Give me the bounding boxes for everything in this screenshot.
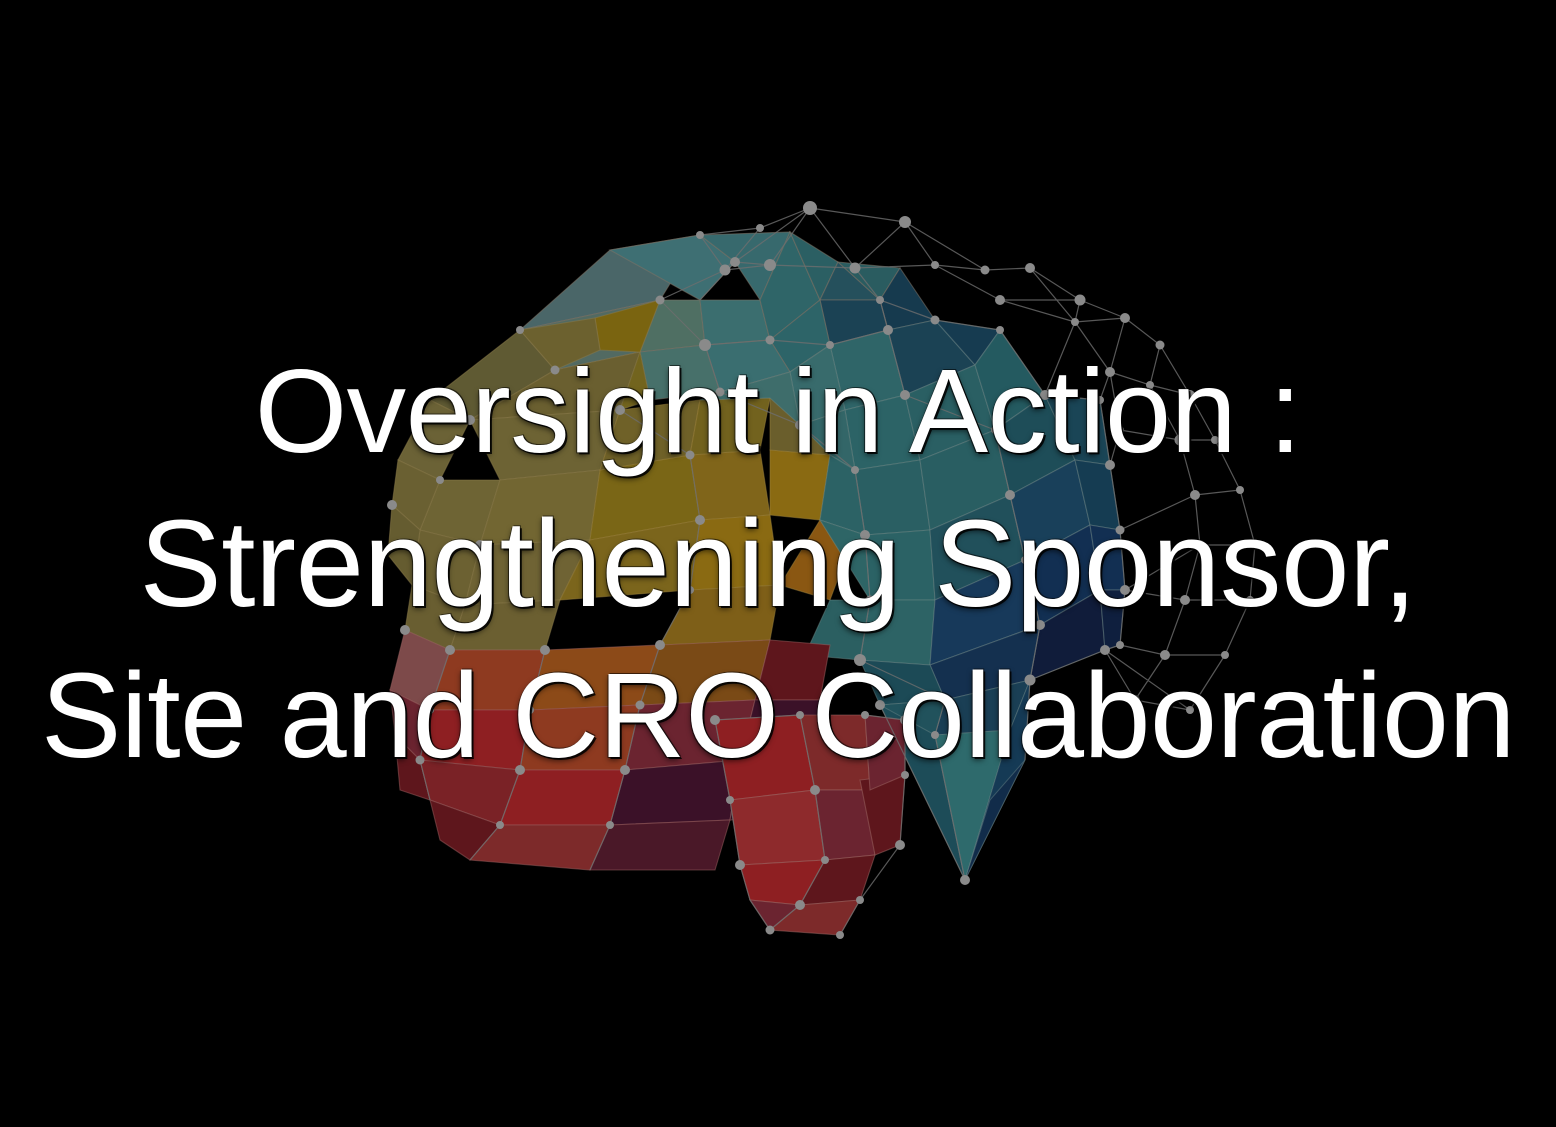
- low-poly-brain-illustration: [0, 0, 1556, 1127]
- background-artwork: [0, 0, 1556, 1127]
- slide-canvas: Oversight in Action : Strengthening Spon…: [0, 0, 1556, 1127]
